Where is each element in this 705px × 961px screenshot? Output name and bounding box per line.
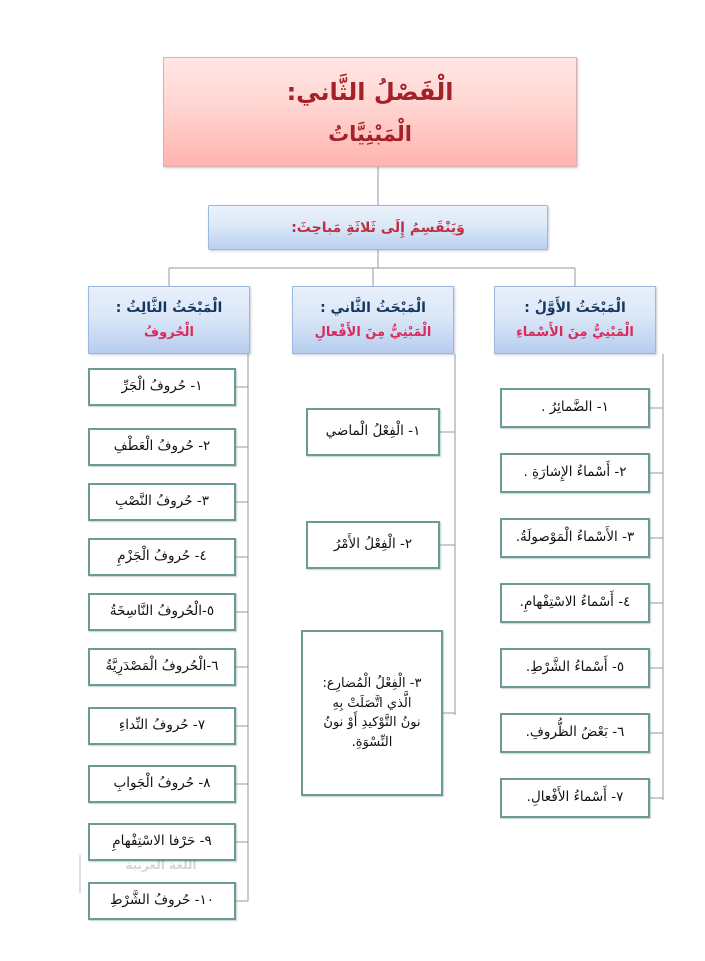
noun-type-item-7: ٧- أَسْماءُ الأَفْعالِ. [500,778,650,818]
verb-type-item-3-line-3: نونُ التَّوْكيدِ أَوْ نونُ [323,713,420,733]
verb-type-item-3-line-1: ٣- الْفِعْلُ الْمُضارِع: [323,674,422,694]
chapter-subtitle-text: وَيَنْقَسِمُ إِلَى ثَلاثَةِ مَباحِثَ: [291,220,465,236]
section-header-nouns-subtitle: الْمَبْنِيُّ مِنَ الأَسْماءِ [516,325,634,340]
noun-type-item-1: ١- الضَّمائِرُ . [500,388,650,428]
section-header-verbs-title: الْمَبْحَثُ الثَّاني : [320,300,426,316]
noun-type-item-6: ٦- بَعْضُ الظُّروفِ. [500,713,650,753]
section-header-verbs-subtitle: الْمَبْنِيُّ مِنَ الأَفْعالِ [315,325,432,340]
letter-type-item-10: ١٠- حُروفُ الشَّرْطِ [88,882,236,920]
verb-type-item-3-line-2: الَّذي اتَّصَلَتْ بِهِ [333,694,412,714]
letter-type-item-1: ١- حُروفُ الْجَرِّ [88,368,236,406]
watermark-text: اللغة العربية [76,858,246,880]
noun-type-item-4: ٤- أَسْماءُ الاسْتِفْهامِ. [500,583,650,623]
section-header-verbs: الْمَبْحَثُ الثَّاني : الْمَبْنِيُّ مِنَ… [292,286,454,354]
letter-type-item-8: ٨- حُروفُ الْجَوابِ [88,765,236,803]
diagram-canvas: الْفَصْلُ الثَّاني: الْمَبْنِيَّاتُ وَيَ… [0,0,705,961]
section-header-letters-title: الْمَبْحَثُ الثَّالِثُ : [116,300,223,316]
letter-type-item-5: ٥-الْحُروفُ النَّاسِخَةُ [88,593,236,631]
letter-type-item-6: ٦-الْحُروفُ الْمَصْدَرِيَّةُ [88,648,236,686]
chapter-title-line2: الْمَبْنِيَّاتُ [328,122,412,146]
noun-type-item-2: ٢- أَسْماءُ الإِشارَةِ . [500,453,650,493]
verb-type-item-1: ١- الْفِعْلُ الْماضي [306,408,440,456]
letter-type-item-2: ٢- حُروفُ الْعَطْفِ [88,428,236,466]
chapter-title-box: الْفَصْلُ الثَّاني: الْمَبْنِيَّاتُ [163,57,577,167]
section-header-letters: الْمَبْحَثُ الثَّالِثُ : الْحُروفُ [88,286,250,354]
verb-type-item-2: ٢- الْفِعْلُ الأَمْرُ [306,521,440,569]
noun-type-item-3: ٣- الأَسْماءُ الْمَوْصولَةُ. [500,518,650,558]
section-header-letters-subtitle: الْحُروفُ [144,325,194,340]
chapter-title-line1: الْفَصْلُ الثَّاني: [287,78,454,106]
letter-type-item-9: ٩- حَرْفا الاسْتِفْهامِ [88,823,236,861]
verb-type-item-3: ٣- الْفِعْلُ الْمُضارِع:الَّذي اتَّصَلَت… [301,630,443,796]
letter-type-item-4: ٤- حُروفُ الْجَزْمِ [88,538,236,576]
section-header-nouns-title: الْمَبْحَثُ الأَوَّلُ : [524,300,626,316]
section-header-nouns: الْمَبْحَثُ الأَوَّلُ : الْمَبْنِيُّ مِن… [494,286,656,354]
verb-type-item-3-line-4: النِّسْوَةِ. [352,733,393,753]
chapter-subtitle-box: وَيَنْقَسِمُ إِلَى ثَلاثَةِ مَباحِثَ: [208,205,548,250]
letter-type-item-3: ٣- حُروفُ النَّصْبِ [88,483,236,521]
noun-type-item-5: ٥- أَسْماءُ الشَّرْطِ. [500,648,650,688]
letter-type-item-7: ٧- حُروفُ النِّداءِ [88,707,236,745]
